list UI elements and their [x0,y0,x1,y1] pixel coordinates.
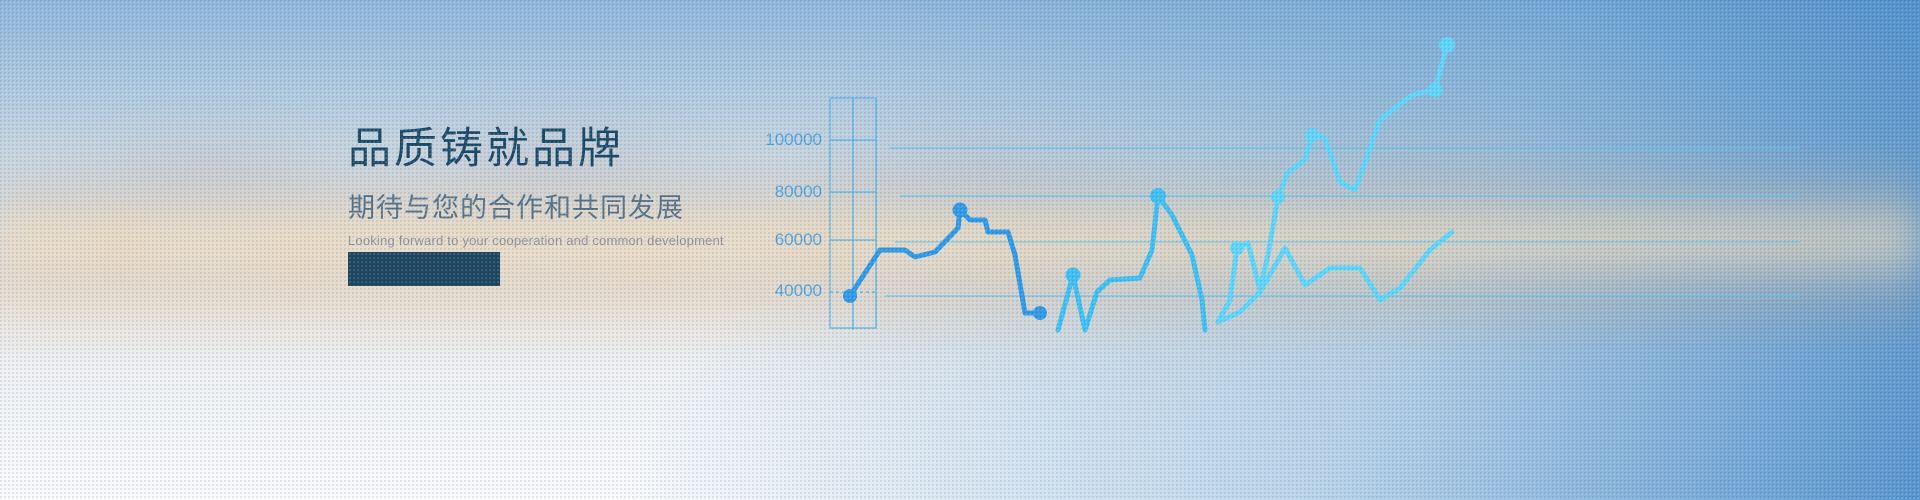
hero-banner: 100000 80000 60000 40000 [0,0,1920,500]
halftone-highlight-overlay [0,0,1920,500]
